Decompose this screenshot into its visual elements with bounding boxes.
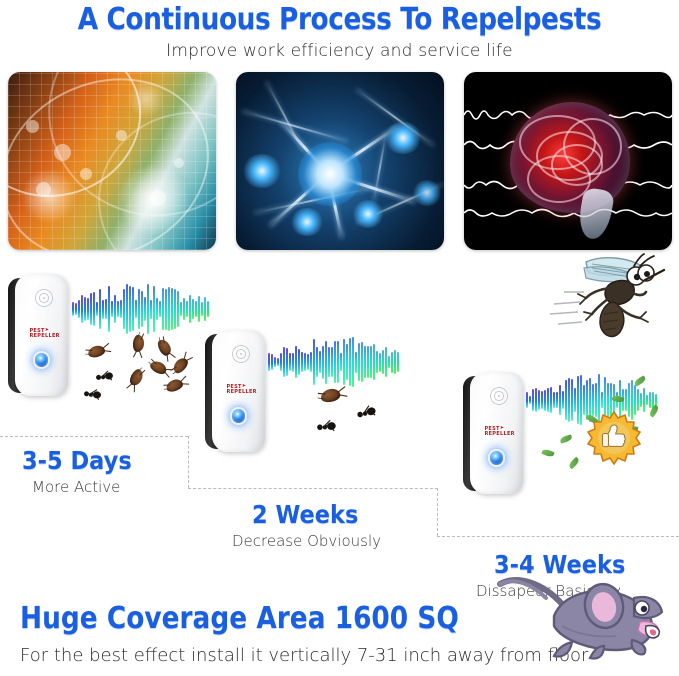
dna-spectrum-image <box>8 72 216 250</box>
led-indicator <box>33 351 51 369</box>
device-front-panel: PEST➤ REPELLER <box>470 372 523 494</box>
wave-bar <box>274 357 276 367</box>
wave-bar <box>562 391 564 408</box>
wave-bar <box>535 388 537 412</box>
wave-bar <box>280 353 282 371</box>
speaker-grille-icon <box>487 384 511 408</box>
wave-bar <box>373 344 375 381</box>
wave-bar <box>129 286 131 333</box>
wave-bar <box>72 302 74 317</box>
signal-arrow-icon: ➤ <box>45 328 50 333</box>
wave-bar <box>135 300 137 319</box>
signal-arrow-icon: ➤ <box>500 426 505 431</box>
wave-bar <box>376 351 378 373</box>
repeller-device-3: PEST➤ REPELLER <box>463 372 523 494</box>
dna-dot <box>174 158 184 168</box>
wave-bar <box>108 286 110 332</box>
wave-bar <box>156 298 158 319</box>
wave-bar <box>298 349 300 376</box>
wave-bar <box>394 350 396 374</box>
wave-bar <box>547 388 549 412</box>
wave-bar <box>358 343 360 382</box>
wave-bar <box>316 347 318 376</box>
brain-waves-image <box>464 72 672 250</box>
wave-bar <box>144 297 146 321</box>
device-brand-line2: REPELLER <box>484 431 514 437</box>
stage-1-subtitle: More Active <box>32 478 120 496</box>
dna-dot <box>80 168 92 180</box>
repeller-device-2: PEST➤ REPELLER <box>205 330 265 452</box>
wave-bar <box>553 392 555 407</box>
wave-bar <box>102 300 104 319</box>
cockroach-icon <box>171 356 191 376</box>
wave-bar <box>556 392 558 408</box>
cockroach-icon <box>128 367 146 387</box>
speaker-grille-icon <box>229 342 253 366</box>
device-brand-label: PEST➤ REPELLER <box>226 385 256 396</box>
wave-bar <box>93 292 95 326</box>
wave-bar <box>304 353 306 370</box>
wave-bar <box>346 344 348 381</box>
wave-bar <box>550 387 552 414</box>
wave-bar <box>625 389 627 411</box>
device-brand-line2: REPELLER <box>226 389 256 395</box>
sound-wave-1 <box>72 286 209 332</box>
wave-bar <box>565 380 567 421</box>
wave-bar <box>171 288 173 329</box>
wave-bar <box>349 338 351 385</box>
wave-bar <box>328 347 330 378</box>
leaf-icon <box>559 434 572 443</box>
wave-bar <box>301 352 303 371</box>
cockroach-icon <box>156 337 174 357</box>
led-indicator <box>230 407 248 425</box>
wave-bar <box>183 298 185 320</box>
wave-bar <box>78 300 80 317</box>
wave-bar <box>364 346 366 378</box>
wave-bar <box>289 353 291 372</box>
wave-bar <box>307 354 309 371</box>
wave-bar <box>577 376 579 424</box>
neuron-spark <box>290 208 324 236</box>
device-front-panel: PEST➤ REPELLER <box>212 330 265 452</box>
dna-dot <box>54 144 71 161</box>
thumbs-up-badge-icon <box>586 410 642 466</box>
wave-bar <box>367 346 369 378</box>
device-brand-label: PEST➤ REPELLER <box>29 329 59 340</box>
wave-bar <box>529 396 531 403</box>
wave-bar <box>526 392 528 409</box>
page-title: A Continuous Process To Repelpests <box>41 2 639 37</box>
led-indicator <box>488 449 506 467</box>
wave-bar <box>583 385 585 414</box>
wave-bar <box>331 347 333 378</box>
wave-bar <box>207 301 209 317</box>
signal-arrow-icon: ➤ <box>242 384 247 389</box>
wave-bar <box>165 289 167 330</box>
wave-bar <box>340 353 342 371</box>
wave-bar <box>75 303 77 315</box>
wave-bar <box>313 339 315 386</box>
wave-bar <box>123 289 125 329</box>
neuron-spark <box>242 154 282 188</box>
panel-row <box>0 72 679 252</box>
wave-bar <box>352 337 354 387</box>
wave-bar <box>105 299 107 318</box>
wave-bar <box>138 289 140 329</box>
leaf-icon <box>541 448 554 458</box>
footer-title: Huge Coverage Area 1600 SQ <box>20 601 459 636</box>
wave-bar <box>150 300 152 319</box>
ant-icon <box>95 371 114 382</box>
wave-bar <box>337 341 339 383</box>
wave-bar <box>195 301 197 317</box>
wave-bar <box>388 356 390 367</box>
wave-bar <box>84 297 86 320</box>
neuron-soma <box>298 142 362 206</box>
wave-bar <box>343 339 345 386</box>
wave-bar <box>204 297 206 320</box>
wave-bar <box>361 342 363 382</box>
cockroach-icon <box>132 334 145 352</box>
sound-wave-2 <box>268 340 399 384</box>
wave-bar <box>640 393 642 407</box>
wave-bar <box>637 389 639 412</box>
wave-bar <box>126 284 128 334</box>
mouse-running-icon <box>492 570 664 662</box>
wave-bar <box>87 298 89 320</box>
wave-bar <box>538 390 540 410</box>
brain-gyrus <box>527 155 591 203</box>
wave-bar <box>544 390 546 411</box>
device-brand-label: PEST➤ REPELLER <box>484 427 514 438</box>
wave-bar <box>355 352 357 373</box>
dna-glow <box>114 164 192 236</box>
wave-bar <box>532 389 534 410</box>
cockroach-icon <box>165 377 185 393</box>
neuron-spark <box>412 180 442 206</box>
stage-1-title: 3-5 Days <box>22 446 132 475</box>
stage-2-title: 2 Weeks <box>252 500 358 529</box>
speaker-grille-icon <box>32 286 56 310</box>
wave-bar <box>325 341 327 384</box>
dna-glow <box>126 80 166 118</box>
wave-bar <box>81 295 83 323</box>
wave-bar <box>319 351 321 373</box>
wave-bar <box>559 385 561 414</box>
wave-bar <box>268 353 270 370</box>
wave-bar <box>162 288 164 329</box>
stage-2-subtitle: Decrease Obviously <box>232 532 381 550</box>
wave-bar <box>286 348 288 375</box>
wave-bar <box>120 300 122 318</box>
wave-bar <box>99 289 101 330</box>
wave-bar <box>283 347 285 377</box>
wave-bar <box>643 388 645 411</box>
wave-bar <box>310 352 312 372</box>
leaf-icon <box>568 457 581 470</box>
wave-bar <box>90 293 92 324</box>
wave-bar <box>186 301 188 317</box>
wave-bar <box>574 388 576 412</box>
cockroach-icon <box>87 344 106 359</box>
wave-bar <box>580 375 582 425</box>
wave-bar <box>292 353 294 372</box>
cockroach-icon <box>320 387 342 403</box>
wave-bar <box>147 284 149 335</box>
wave-bar <box>201 302 203 316</box>
wave-bar <box>277 358 279 367</box>
wave-bar <box>601 392 603 409</box>
ant-icon <box>356 405 378 420</box>
mosquito-flying-away-icon <box>548 252 666 348</box>
wave-bar <box>382 350 384 375</box>
wave-bar <box>568 378 570 423</box>
wave-bar <box>159 301 161 318</box>
device-front-panel: PEST➤ REPELLER <box>15 274 68 396</box>
timeline-stages: PEST➤ REPELLER <box>0 250 679 570</box>
wave-bar <box>153 286 155 333</box>
cockroach-icon <box>148 359 168 377</box>
wave-bar <box>649 392 651 409</box>
ant-icon <box>317 421 338 433</box>
wave-bar <box>114 295 116 323</box>
wave-bar <box>177 291 179 327</box>
wave-bar <box>295 346 297 379</box>
wave-bar <box>322 346 324 379</box>
wave-bar <box>385 347 387 376</box>
wave-bar <box>96 302 98 316</box>
wave-bar <box>132 287 134 332</box>
wave-bar <box>168 287 170 331</box>
wave-bar <box>111 301 113 317</box>
wave-bar <box>117 301 119 317</box>
wave-bar <box>391 352 393 373</box>
dna-glow <box>20 168 78 224</box>
wave-bar <box>334 341 336 384</box>
infographic-page: A Continuous Process To Repelpests Impro… <box>0 0 679 676</box>
repeller-device-1: PEST➤ REPELLER <box>8 274 68 396</box>
page-subtitle: Improve work efficiency and service life <box>0 41 679 61</box>
dna-dot <box>116 130 127 141</box>
wave-bar <box>271 354 273 370</box>
wave-bar <box>370 346 372 379</box>
dna-dot <box>26 120 39 133</box>
neuron-network-image <box>236 72 444 250</box>
wave-bar <box>192 299 194 319</box>
wave-bar <box>198 296 200 322</box>
ant-icon <box>84 389 103 400</box>
wave-bar <box>397 352 399 372</box>
wave-bar <box>174 289 176 330</box>
neuron-spark <box>352 200 384 228</box>
wave-bar <box>180 302 182 316</box>
wave-bar <box>541 391 543 409</box>
wave-bar <box>571 379 573 422</box>
wave-bar <box>646 395 648 405</box>
wave-bar <box>379 353 381 372</box>
neuron-spark <box>384 122 422 154</box>
wave-bar <box>189 295 191 323</box>
device-brand-line2: REPELLER <box>29 333 59 339</box>
wave-bar <box>141 291 143 327</box>
